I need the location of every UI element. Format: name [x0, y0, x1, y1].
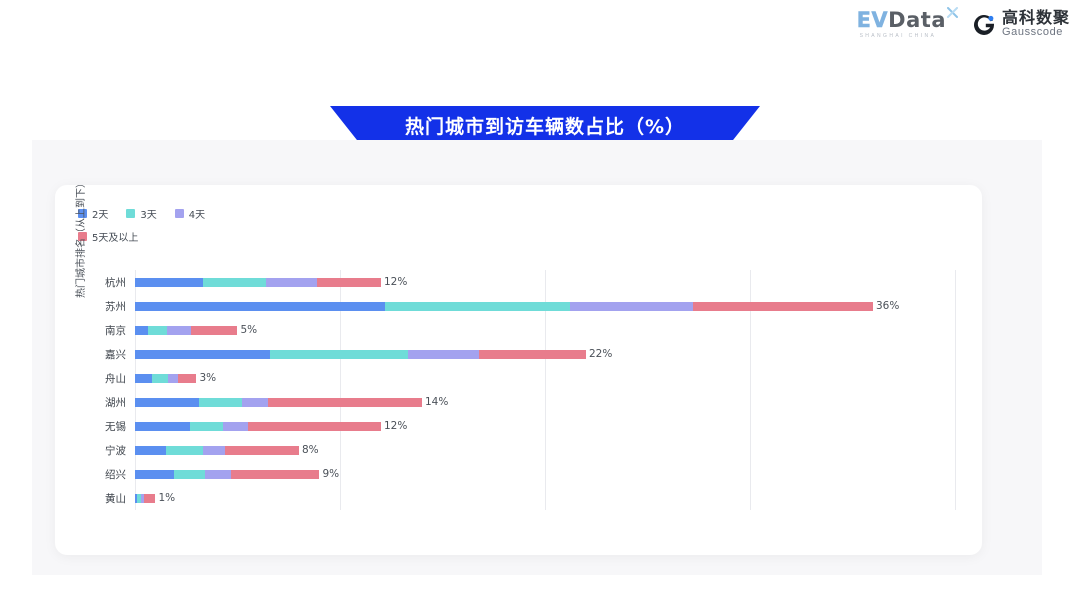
- category-label: 绍兴: [105, 467, 126, 482]
- legend-label: 2天: [92, 206, 108, 221]
- stacked-bar[interactable]: [135, 278, 381, 287]
- bar-segment[interactable]: [135, 398, 199, 407]
- chart-row[interactable]: 南京5%: [135, 319, 955, 341]
- bar-segment[interactable]: [205, 470, 232, 479]
- bar-segment[interactable]: [199, 398, 242, 407]
- bar-segment[interactable]: [317, 278, 381, 287]
- bar-segment[interactable]: [190, 422, 223, 431]
- gausscode-logo: 高科数聚 Gausscode: [972, 10, 1070, 38]
- stacked-bar-chart: 热门城市排名（从上到下） 杭州12%苏州36%南京5%嘉兴22%舟山3%湖州14…: [78, 270, 958, 520]
- stacked-bar[interactable]: [135, 326, 237, 335]
- legend-item[interactable]: 5天及以上: [78, 229, 138, 244]
- bar-segment[interactable]: [135, 374, 152, 383]
- chart-gridline: [955, 270, 956, 510]
- legend-swatch-icon: [175, 209, 184, 218]
- bar-value-label: 12%: [384, 276, 407, 288]
- stacked-bar[interactable]: [135, 422, 381, 431]
- bar-value-label: 5%: [240, 324, 257, 336]
- y-axis-title: 热门城市排名（从上到下）: [72, 158, 87, 318]
- bar-segment[interactable]: [152, 374, 167, 383]
- category-label: 南京: [105, 323, 126, 338]
- bar-segment[interactable]: [479, 350, 586, 359]
- bar-segment[interactable]: [385, 302, 570, 311]
- bar-segment[interactable]: [135, 326, 148, 335]
- bar-segment[interactable]: [191, 326, 237, 335]
- bar-segment[interactable]: [178, 374, 196, 383]
- stacked-bar[interactable]: [135, 398, 422, 407]
- bar-value-label: 14%: [425, 396, 448, 408]
- chart-row[interactable]: 无锡12%: [135, 415, 955, 437]
- bar-segment[interactable]: [225, 446, 299, 455]
- stacked-bar[interactable]: [135, 350, 586, 359]
- bar-segment[interactable]: [135, 350, 270, 359]
- bar-value-label: 22%: [589, 348, 612, 360]
- chart-plot-area: 杭州12%苏州36%南京5%嘉兴22%舟山3%湖州14%无锡12%宁波8%绍兴9…: [135, 270, 955, 510]
- bar-segment[interactable]: [135, 278, 203, 287]
- category-label: 宁波: [105, 443, 126, 458]
- slide-root: EV Data SHANGHAI CHINA 高科数聚: [0, 0, 1080, 608]
- evdata-logo-wordmark: EV Data: [857, 10, 958, 31]
- bar-segment[interactable]: [135, 446, 166, 455]
- stacked-bar[interactable]: [135, 302, 873, 311]
- page-title: 热门城市到访车辆数占比（%）: [405, 112, 685, 139]
- bar-segment[interactable]: [693, 302, 873, 311]
- category-label: 湖州: [105, 395, 126, 410]
- legend-label: 5天及以上: [92, 229, 138, 244]
- chart-row[interactable]: 宁波8%: [135, 439, 955, 461]
- chart-row[interactable]: 舟山3%: [135, 367, 955, 389]
- bar-value-label: 8%: [302, 444, 319, 456]
- chart-row[interactable]: 湖州14%: [135, 391, 955, 413]
- evdata-logo-main: Data: [888, 10, 946, 31]
- chart-row[interactable]: 杭州12%: [135, 271, 955, 293]
- bar-segment[interactable]: [135, 470, 174, 479]
- bar-segment[interactable]: [167, 326, 192, 335]
- title-banner: 热门城市到访车辆数占比（%）: [330, 106, 760, 144]
- stacked-bar[interactable]: [135, 446, 299, 455]
- bar-segment[interactable]: [135, 302, 385, 311]
- bar-segment[interactable]: [231, 470, 319, 479]
- stacked-bar[interactable]: [135, 374, 196, 383]
- bar-segment[interactable]: [148, 326, 166, 335]
- header-logo-bar: EV Data SHANGHAI CHINA 高科数聚: [857, 10, 1070, 39]
- category-label: 苏州: [105, 299, 126, 314]
- category-label: 无锡: [105, 419, 126, 434]
- bar-segment[interactable]: [408, 350, 480, 359]
- bar-value-label: 1%: [158, 492, 175, 504]
- bar-value-label: 9%: [322, 468, 339, 480]
- category-label: 黄山: [105, 491, 126, 506]
- legend-item[interactable]: 4天: [175, 206, 205, 221]
- bar-segment[interactable]: [266, 278, 317, 287]
- bar-segment[interactable]: [168, 374, 178, 383]
- legend-item[interactable]: 3天: [126, 206, 156, 221]
- category-label: 杭州: [105, 275, 126, 290]
- chart-row[interactable]: 黄山1%: [135, 487, 955, 509]
- bar-segment[interactable]: [570, 302, 693, 311]
- evdata-logo-prefix: EV: [857, 10, 889, 31]
- stacked-bar[interactable]: [135, 494, 155, 503]
- bar-segment[interactable]: [223, 422, 248, 431]
- evdata-cross-icon: [947, 7, 958, 20]
- chart-row[interactable]: 嘉兴22%: [135, 343, 955, 365]
- bar-segment[interactable]: [270, 350, 407, 359]
- chart-row[interactable]: 苏州36%: [135, 295, 955, 317]
- legend-label: 3天: [140, 206, 156, 221]
- category-label: 嘉兴: [105, 347, 126, 362]
- bar-segment[interactable]: [144, 494, 155, 503]
- stacked-bar[interactable]: [135, 470, 319, 479]
- chart-row[interactable]: 绍兴9%: [135, 463, 955, 485]
- bar-segment[interactable]: [203, 278, 267, 287]
- bar-segment[interactable]: [135, 422, 190, 431]
- bar-value-label: 36%: [876, 300, 899, 312]
- legend-label: 4天: [189, 206, 205, 221]
- bar-segment[interactable]: [248, 422, 381, 431]
- bar-segment[interactable]: [242, 398, 269, 407]
- bar-segment[interactable]: [166, 446, 203, 455]
- legend-swatch-icon: [126, 209, 135, 218]
- title-banner-shape: 热门城市到访车辆数占比（%）: [330, 106, 760, 144]
- gausscode-mark-icon: [972, 13, 996, 37]
- bar-value-label: 12%: [384, 420, 407, 432]
- evdata-logo: EV Data SHANGHAI CHINA: [857, 10, 958, 39]
- bar-value-label: 3%: [199, 372, 216, 384]
- chart-legend: 2天3天4天5天及以上: [78, 206, 378, 244]
- evdata-logo-subtitle: SHANGHAI CHINA: [860, 33, 937, 39]
- gausscode-logo-en: Gausscode: [1002, 27, 1070, 39]
- bar-segment[interactable]: [174, 470, 205, 479]
- gausscode-logo-text: 高科数聚 Gausscode: [1002, 10, 1070, 38]
- category-label: 舟山: [105, 371, 126, 386]
- bar-segment[interactable]: [268, 398, 422, 407]
- bar-segment[interactable]: [203, 446, 226, 455]
- gausscode-logo-cn: 高科数聚: [1002, 10, 1070, 27]
